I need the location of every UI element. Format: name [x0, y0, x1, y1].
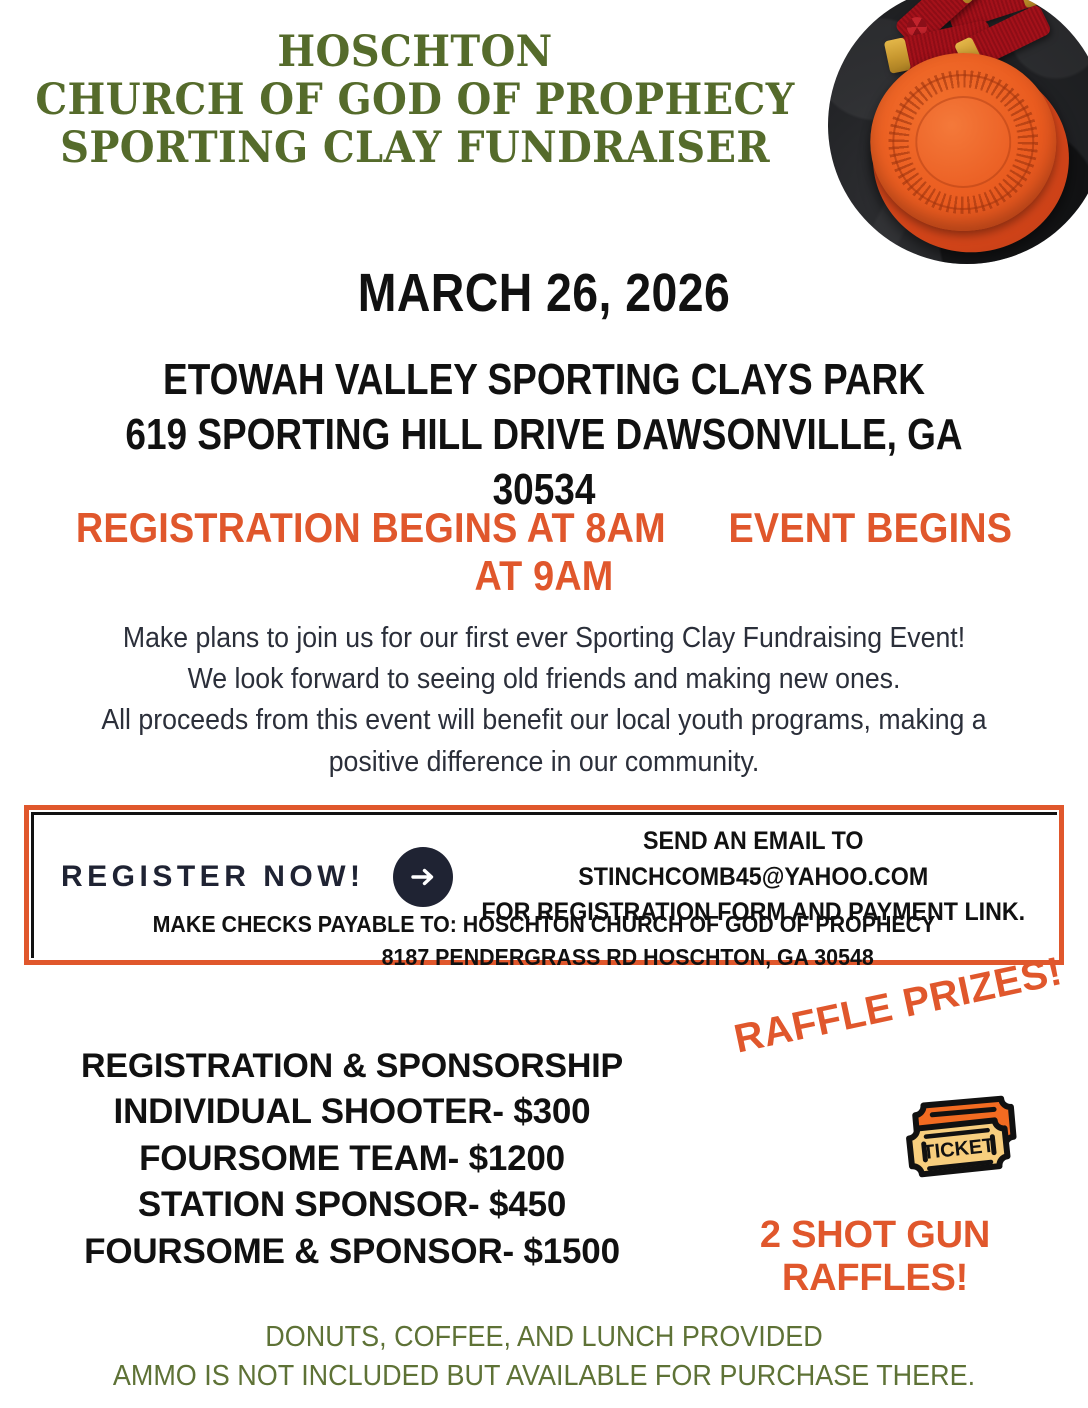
- raffle-ticket-icon: TICKET: [900, 1088, 1030, 1193]
- clay-target-front: [870, 53, 1056, 231]
- venue-address: 619 SPORTING HILL DRIVE DAWSONVILLE, GA …: [87, 407, 1001, 517]
- headline-line-1: HOSCHTON: [29, 28, 801, 76]
- pricing-heading: REGISTRATION & SPONSORSHIP: [36, 1044, 668, 1089]
- description-line-3: All proceeds from this event will benefi…: [44, 700, 1045, 741]
- headline-line-3: SPORTING CLAY FUNDRAISER: [29, 124, 801, 172]
- event-date: MARCH 26, 2026: [76, 262, 1012, 324]
- raffle-count-label: 2 SHOT GUN RAFFLES!: [670, 1214, 1080, 1300]
- venue-block: ETOWAH VALLEY SPORTING CLAYS PARK 619 SP…: [87, 352, 1001, 517]
- pricing-list: REGISTRATION & SPONSORSHIP INDIVIDUAL SH…: [36, 1044, 668, 1275]
- checks-payable-line-1: MAKE CHECKS PAYABLE TO: HOSCHTON CHURCH …: [65, 908, 1023, 941]
- headline-line-2: CHURCH OF GOD OF PROPHECY: [29, 76, 801, 124]
- flyer-footer: DONUTS, COFFEE, AND LUNCH PROVIDED AMMO …: [38, 1318, 1050, 1396]
- clay-targets-photo: [828, 0, 1088, 264]
- pricing-item: INDIVIDUAL SHOOTER- $300: [36, 1089, 668, 1136]
- checks-payable-block: MAKE CHECKS PAYABLE TO: HOSCHTON CHURCH …: [65, 908, 1023, 973]
- register-callout-box: REGISTER NOW! SEND AN EMAIL TO STINCHCOM…: [24, 805, 1064, 965]
- pricing-item: FOURSOME & SPONSOR- $1500: [36, 1229, 668, 1276]
- footer-line-2: AMMO IS NOT INCLUDED BUT AVAILABLE FOR P…: [38, 1357, 1050, 1396]
- venue-name: ETOWAH VALLEY SPORTING CLAYS PARK: [87, 352, 1001, 407]
- event-description: Make plans to join us for our first ever…: [44, 618, 1045, 783]
- email-line-1: SEND AN EMAIL TO STINCHCOMB45@YAHOO.COM: [474, 824, 1032, 895]
- footer-line-1: DONUTS, COFFEE, AND LUNCH PROVIDED: [38, 1318, 1050, 1357]
- flyer-headline: HOSCHTON CHURCH OF GOD OF PROPHECY SPORT…: [29, 28, 801, 172]
- registration-time: REGISTRATION BEGINS AT 8AM: [76, 504, 666, 551]
- pricing-item: FOURSOME TEAM- $1200: [36, 1136, 668, 1183]
- description-line-1: Make plans to join us for our first ever…: [44, 618, 1045, 659]
- pricing-item: STATION SPONSOR- $450: [36, 1182, 668, 1229]
- register-now-label: REGISTER NOW!: [61, 860, 365, 894]
- description-line-4: positive difference in our community.: [44, 742, 1045, 783]
- checks-payable-line-2: 8187 PENDERGRASS RD HOSCHTON, GA 30548: [65, 941, 1023, 974]
- description-line-2: We look forward to seeing old friends an…: [44, 659, 1045, 700]
- arrow-right-icon: [393, 847, 453, 907]
- event-times: REGISTRATION BEGINS AT 8AM EVENT BEGINS …: [54, 504, 1033, 600]
